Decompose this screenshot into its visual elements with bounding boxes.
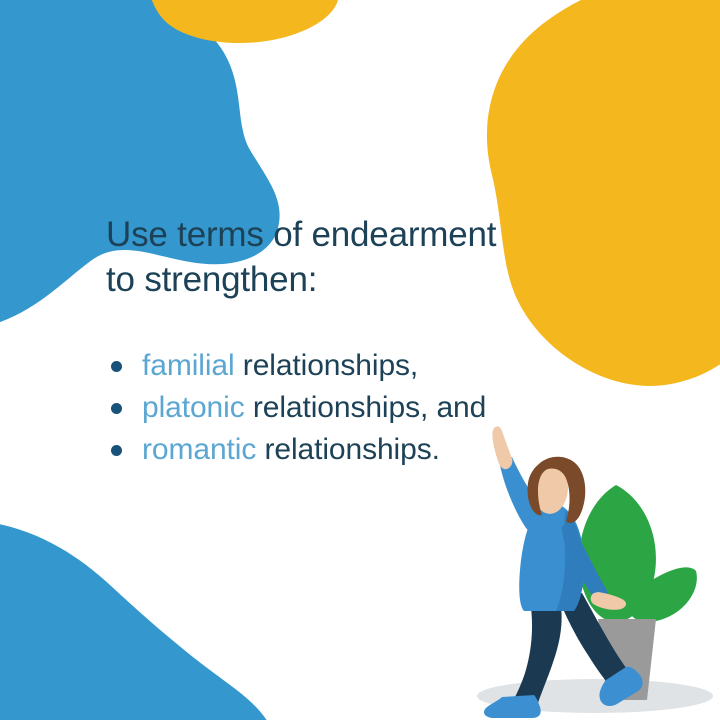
page-title: Use terms of endearment to strengthen:	[106, 212, 576, 302]
yellow-blob-top-left	[149, 0, 339, 43]
list-item-keyword: familial	[142, 349, 235, 382]
illustration-person-with-plant	[470, 425, 720, 720]
list-item-text: relationships, and	[245, 391, 487, 424]
list-item-text: relationships.	[256, 433, 440, 466]
list-item: familial relationships,	[106, 345, 576, 387]
slide-canvas: Use terms of endearment to strengthen: f…	[0, 0, 720, 720]
list-item-keyword: romantic	[142, 433, 256, 466]
blue-blob-bottom-left	[0, 520, 285, 720]
list-item-text: relationships,	[235, 349, 419, 382]
figure-hand-pointing	[492, 426, 512, 469]
yellow-blob-top-right	[487, 0, 720, 386]
bullet-dot-icon	[111, 361, 122, 372]
bullet-dot-icon	[111, 403, 122, 414]
text-block: Use terms of endearment to strengthen: f…	[106, 212, 576, 302]
bullet-dot-icon	[111, 445, 122, 456]
list-item: platonic relationships, and	[106, 387, 576, 429]
list-item-keyword: platonic	[142, 391, 245, 424]
